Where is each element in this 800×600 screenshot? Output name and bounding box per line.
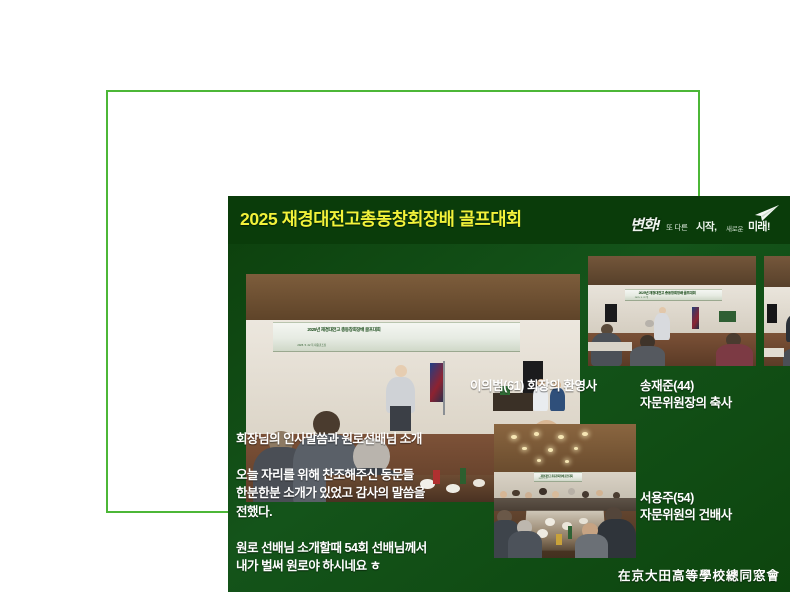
event-banner: 2025년 재경대전고 총동창회장배 골프대회 2025. 5. 22 목 xyxy=(625,289,722,301)
ceiling-light xyxy=(537,459,541,462)
alumni-association-name: 在京大田高等學校總同窓會 xyxy=(618,565,780,584)
slide-outer-frame: 2025 재경대전고총동창회장배 골프대회 변화! 또 다른 시작, 새로운 미… xyxy=(106,90,700,513)
guest-head xyxy=(539,488,546,495)
speaker-body xyxy=(654,313,671,339)
ceiling-light xyxy=(511,435,517,439)
photo-welcome-speech: 2025년 재경대전고 총동창회장배 골프대회 2025. 5. 22 목 xyxy=(588,256,756,366)
rear-equipment xyxy=(719,311,736,322)
paper-plane-icon xyxy=(754,204,780,222)
event-banner-subtext: 2025. 5. 22 목 대중골프장 xyxy=(297,343,326,347)
page-title: 2025 재경대전고총동창회장배 골프대회 xyxy=(240,206,522,231)
brand-tagline-part-3: 새로운 xyxy=(726,223,743,233)
brand-wordmark: 변화! xyxy=(630,214,660,235)
speaker-head xyxy=(395,365,407,377)
slide-panel: 2025 재경대전고총동창회장배 골프대회 변화! 또 다른 시작, 새로운 미… xyxy=(228,196,790,592)
event-banner-subtext: 2025. 5. 22 목 xyxy=(635,295,649,299)
event-banner-text: 2025년 재경대전고 총동창회장배 골프대회 xyxy=(307,327,380,333)
guest-head xyxy=(552,491,559,498)
bottle xyxy=(568,526,572,539)
photo-congratulatory-speech: 2025년 재경대전고 총동창회장배 골프대회 2025. 5. 22 목 xyxy=(764,256,790,366)
podium xyxy=(390,406,412,431)
event-banner: 재경대전고 총동창회장배 골프대회 2025. 5. 22 xyxy=(534,472,582,481)
event-banner: 2025년 재경대전고 총동창회장배 골프대회 2025. 5. 22 목 대중… xyxy=(273,322,520,352)
ceiling-light xyxy=(558,435,564,439)
photo-ceiling xyxy=(764,256,790,287)
foreground-body xyxy=(575,534,608,558)
photo-ceiling xyxy=(246,274,580,320)
brand-tagline-part-2: 시작, xyxy=(696,219,716,234)
slide-body-text: 회장님의 인사말씀과 원로선배님 소개 오늘 자리를 위해 찬조해주신 동문들 … xyxy=(236,430,488,575)
slide-title-bar: 2025 재경대전고총동창회장배 골프대회 변화! 또 다른 시작, 새로운 미… xyxy=(228,196,790,244)
glass xyxy=(556,534,562,545)
photo-ceiling xyxy=(494,424,636,472)
guest-head xyxy=(512,490,519,497)
speaker-body xyxy=(786,315,790,341)
flag-pole xyxy=(443,361,445,416)
caption-toast: 서용주(54) 자문위원의 건배사 xyxy=(640,490,732,524)
photo-toast-banquet: 재경대전고 총동창회장배 골프대회 2025. 5. 22 xyxy=(494,424,636,558)
caption-congratulatory-speech: 송재준(44) 자문위원장의 축사 xyxy=(640,378,732,412)
guest-head xyxy=(568,488,575,495)
ceiling-light xyxy=(548,448,553,451)
guest-head xyxy=(500,491,507,498)
av-speaker xyxy=(767,304,777,323)
korean-flag xyxy=(692,307,699,329)
attendee-body xyxy=(716,344,753,366)
dining-table xyxy=(588,342,632,351)
rear-table xyxy=(493,393,533,411)
foreground-body xyxy=(508,531,542,558)
caption-welcome-speech: 이의범(61) 회장의 환영사 xyxy=(470,378,597,395)
ceiling-light xyxy=(582,432,588,436)
photo-ceiling xyxy=(588,256,756,285)
attendee-head xyxy=(645,320,653,328)
av-speaker xyxy=(605,304,617,322)
tableware xyxy=(545,518,555,526)
dining-table xyxy=(764,348,784,357)
attendee-body xyxy=(630,346,665,366)
brand-logo: 변화! 또 다른 시작, 새로운 미래! xyxy=(630,202,782,242)
event-banner-subtext: 2025. 5. 22 xyxy=(539,478,548,480)
brand-tagline-part-1: 또 다른 xyxy=(666,222,688,233)
guest-head xyxy=(582,491,589,498)
